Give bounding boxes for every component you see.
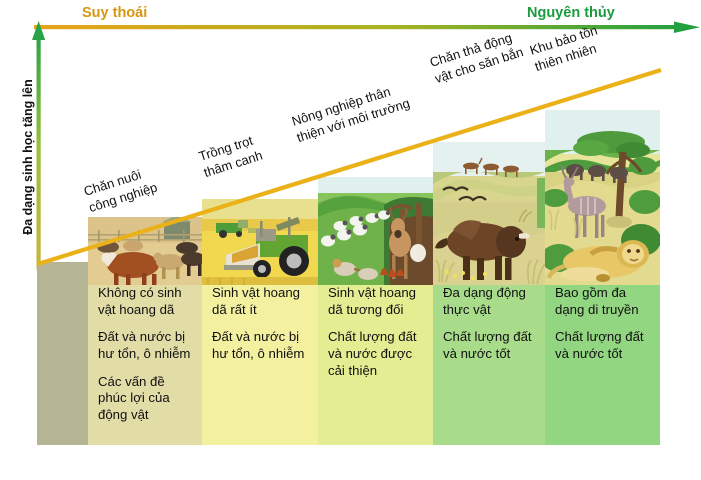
col5-line-1: Bao gồm đa dạng di truyền bbox=[555, 285, 652, 318]
text-column-1: Không có sinh vật hoang dã Đất và nước b… bbox=[88, 285, 202, 445]
col1-line-1: Không có sinh vật hoang dã bbox=[98, 285, 194, 318]
axis-label-degraded: Suy thoái bbox=[82, 5, 147, 21]
col1-line-3: Các vấn đề phúc lợi của động vật bbox=[98, 374, 194, 424]
text-column-4: Đa dạng động thực vật Chất lượng đất và … bbox=[433, 285, 545, 445]
axis-label-pristine: Nguyên thủy bbox=[527, 5, 615, 21]
left-filler-band bbox=[37, 262, 88, 445]
scene-savanna-lion bbox=[545, 110, 660, 285]
text-column-2: Sinh vật hoang dã rất ít Đất và nước bị … bbox=[202, 285, 318, 445]
text-column-3: Sinh vật hoang dã tương đối Chất lượng đ… bbox=[318, 285, 433, 445]
diagram-canvas: Suy thoái Nguyên thủy Đa dạng sinh học t… bbox=[0, 0, 701, 480]
horizontal-axis-arrow bbox=[34, 20, 701, 36]
scene-wheat-harvester bbox=[202, 199, 318, 285]
axis-label-biodiversity: Đa dạng sinh học tăng lên bbox=[21, 67, 35, 247]
col2-line-1: Sinh vật hoang dã rất ít bbox=[212, 285, 310, 318]
stage-label-industrial-livestock: Chăn nuôi công nghiệp bbox=[82, 163, 160, 217]
stage-label-eco-agriculture: Nông nghiệp thân thiện với môi trường bbox=[290, 79, 412, 147]
col4-line-1: Đa dạng động thực vật bbox=[443, 285, 537, 318]
scene-mixed-pasture bbox=[318, 177, 433, 285]
col3-line-1: Sinh vật hoang dã tương đối bbox=[328, 285, 425, 318]
stage-label-game-ranching: Chăn thả động vật cho săn bắn bbox=[428, 28, 526, 88]
stage-label-intensive-cropping: Trồng trọt thâm canh bbox=[197, 131, 265, 181]
scene-cattle-feedlot bbox=[88, 217, 202, 285]
col5-line-2: Chất lượng đất và nước tốt bbox=[555, 329, 652, 362]
col2-line-2: Đất và nước bị hư tổn, ô nhiễm bbox=[212, 329, 310, 362]
col3-line-2: Chất lượng đất và nước được cải thiện bbox=[328, 329, 425, 379]
col4-line-2: Chất lượng đất và nước tốt bbox=[443, 329, 537, 362]
col1-line-2: Đất và nước bị hư tổn, ô nhiễm bbox=[98, 329, 194, 362]
scene-prairie-bison bbox=[433, 142, 545, 285]
text-column-5: Bao gồm đa dạng di truyền Chất lượng đất… bbox=[545, 285, 660, 445]
